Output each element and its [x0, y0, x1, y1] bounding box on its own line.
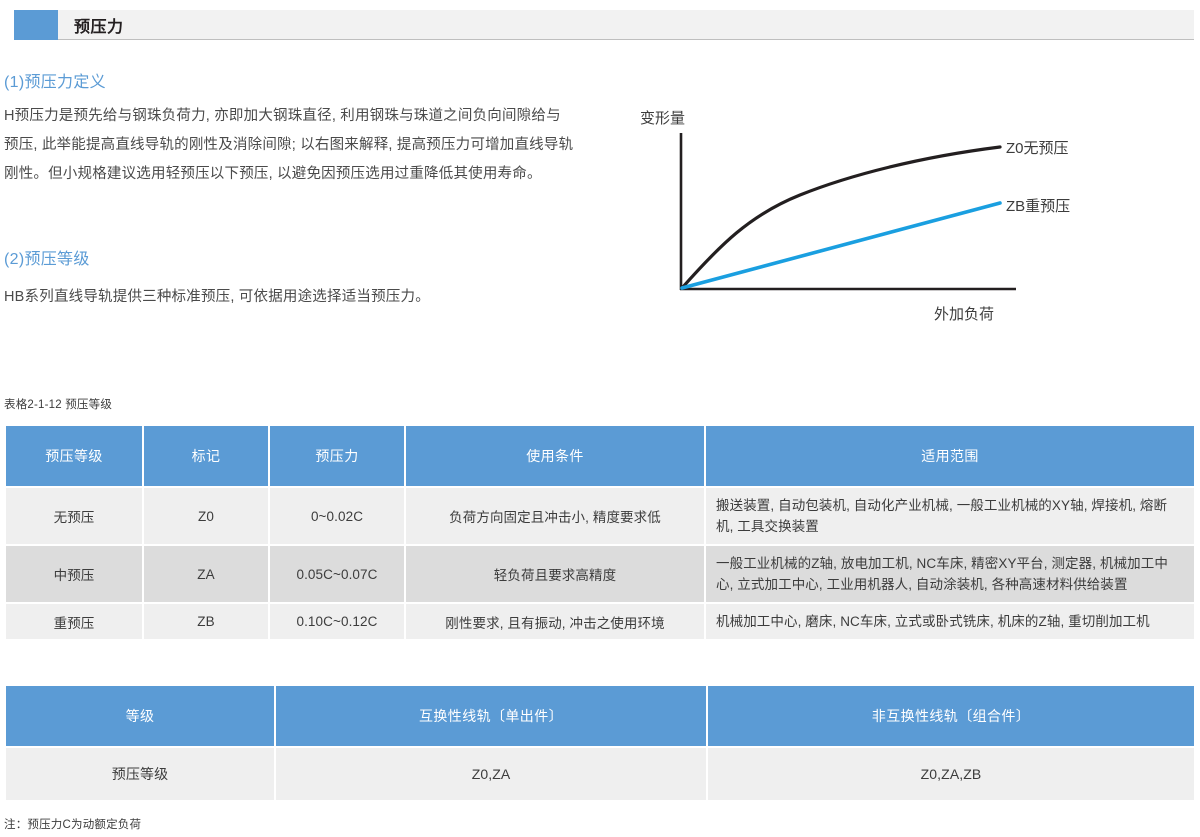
table-1-head: 预压等级 标记 预压力 使用条件 适用范围: [6, 426, 1194, 486]
table-1-header-mark: 标记: [144, 426, 268, 486]
cell-grade: 无预压: [6, 488, 142, 544]
cell-range: 一般工业机械的Z轴, 放电加工机, NC车床, 精密XY平台, 测定器, 机械加…: [706, 546, 1194, 602]
table-2-header-non-interchangeable: 非互换性线轨〔组合件〕: [708, 686, 1194, 746]
page-title: 预压力: [74, 13, 124, 37]
cell-interchangeable: Z0,ZA: [276, 748, 706, 800]
table-1-header-grade: 预压等级: [6, 426, 142, 486]
chart-series-zb-line: [682, 203, 1000, 288]
table-2-header-row: 等级 互换性线轨〔单出件〕 非互换性线轨〔组合件〕: [6, 686, 1194, 746]
table-row: 无预压 Z0 0~0.02C 负荷方向固定且冲击小, 精度要求低 搬送装置, 自…: [6, 488, 1194, 544]
table-1-header-condition: 使用条件: [406, 426, 704, 486]
cell-mark: ZA: [144, 546, 268, 602]
table-2-header-grade: 等级: [6, 686, 274, 746]
table-1-caption: 表格2-1-12 预压等级: [4, 396, 112, 412]
cell-range: 机械加工中心, 磨床, NC车床, 立式或卧式铣床, 机床的Z轴, 重切削加工机: [706, 604, 1194, 639]
cell-mark: Z0: [144, 488, 268, 544]
section-1-body: H预压力是预先给与钢珠负荷力, 亦即加大钢珠直径, 利用钢珠与珠道之间负向间隙给…: [4, 102, 574, 189]
cell-condition: 刚性要求, 且有振动, 冲击之使用环境: [406, 604, 704, 639]
cell-force: 0.05C~0.07C: [270, 546, 404, 602]
cell-mark: ZB: [144, 604, 268, 639]
cell-range: 搬送装置, 自动包装机, 自动化产业机械, 一般工业机械的XY轴, 焊接机, 熔…: [706, 488, 1194, 544]
chart-y-axis-label: 变形量: [640, 110, 685, 127]
section-2-heading: (2)预压等级: [4, 245, 90, 269]
page-title-box: 预压力: [58, 10, 1194, 40]
chart-svg: 变形量 Z0无预压 ZB重预压 外加负荷: [600, 95, 1200, 335]
chart-series-label-zb: ZB重预压: [1006, 198, 1070, 215]
section-1-heading: (1)预压力定义: [4, 68, 106, 92]
cell-grade: 预压等级: [6, 748, 274, 800]
page-header: 预压力: [14, 10, 1194, 40]
cell-grade: 中预压: [6, 546, 142, 602]
cell-force: 0.10C~0.12C: [270, 604, 404, 639]
table-2-head: 等级 互换性线轨〔单出件〕 非互换性线轨〔组合件〕: [6, 686, 1194, 746]
chart-series-label-z0: Z0无预压: [1006, 140, 1069, 157]
table-row: 预压等级 Z0,ZA Z0,ZA,ZB: [6, 748, 1194, 800]
table-row: 中预压 ZA 0.05C~0.07C 轻负荷且要求高精度 一般工业机械的Z轴, …: [6, 546, 1194, 602]
table-row: 重预压 ZB 0.10C~0.12C 刚性要求, 且有振动, 冲击之使用环境 机…: [6, 604, 1194, 639]
section-2-body: HB系列直线导轨提供三种标准预压, 可依据用途选择适当预压力。: [4, 283, 574, 312]
preload-grade-table: 预压等级 标记 预压力 使用条件 适用范围 无预压 Z0 0~0.02C 负荷方…: [4, 424, 1196, 641]
cell-condition: 轻负荷且要求高精度: [406, 546, 704, 602]
rail-interchangeability-table: 等级 互换性线轨〔单出件〕 非互换性线轨〔组合件〕 预压等级 Z0,ZA Z0,…: [4, 684, 1196, 802]
cell-force: 0~0.02C: [270, 488, 404, 544]
cell-condition: 负荷方向固定且冲击小, 精度要求低: [406, 488, 704, 544]
table-2-body: 预压等级 Z0,ZA Z0,ZA,ZB: [6, 748, 1194, 800]
table-1-header-row: 预压等级 标记 预压力 使用条件 适用范围: [6, 426, 1194, 486]
table-1-body: 无预压 Z0 0~0.02C 负荷方向固定且冲击小, 精度要求低 搬送装置, 自…: [6, 488, 1194, 639]
header-color-swatch: [14, 10, 58, 40]
table-1-header-range: 适用范围: [706, 426, 1194, 486]
cell-grade: 重预压: [6, 604, 142, 639]
table-footnote: 注：预压力C为动额定负荷: [4, 816, 141, 832]
table-1-header-force: 预压力: [270, 426, 404, 486]
chart-x-axis-label: 外加负荷: [934, 306, 994, 323]
table-2-header-interchangeable: 互换性线轨〔单出件〕: [276, 686, 706, 746]
cell-non-interchangeable: Z0,ZA,ZB: [708, 748, 1194, 800]
preload-deformation-chart: 变形量 Z0无预压 ZB重预压 外加负荷: [600, 95, 1200, 335]
